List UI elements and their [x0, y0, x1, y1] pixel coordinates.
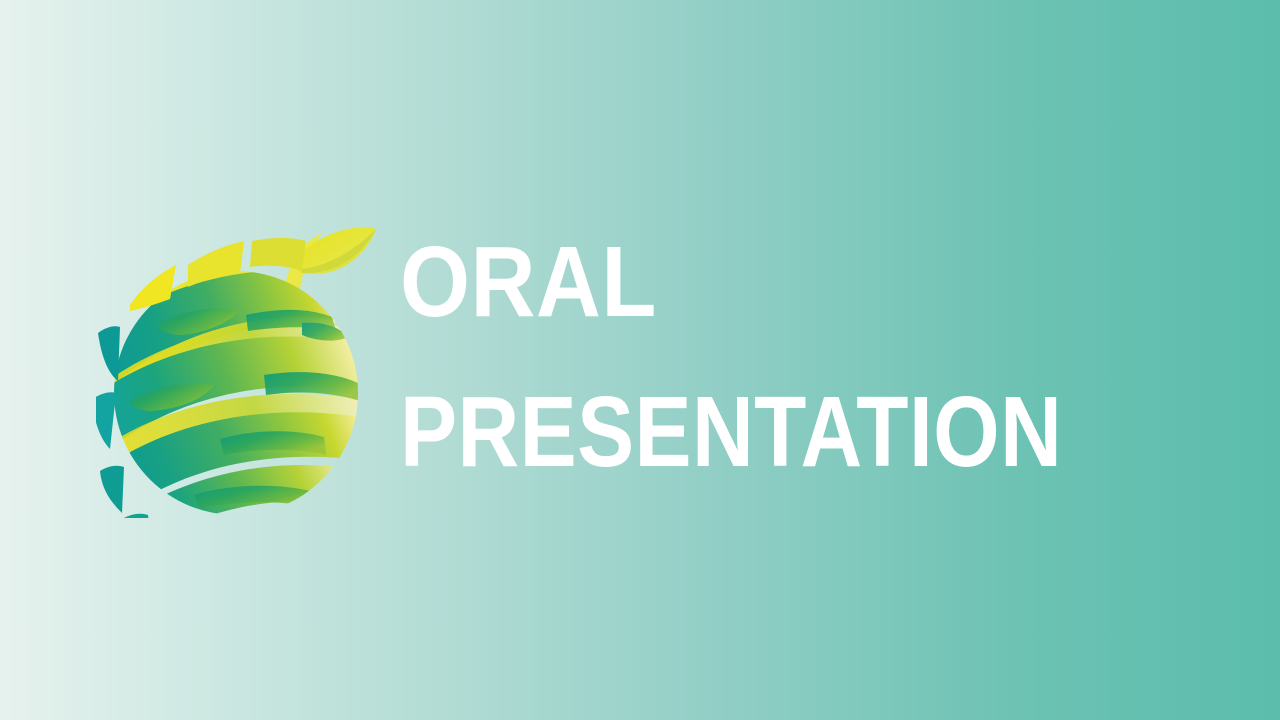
globe-ribbon-logo — [96, 203, 376, 518]
title-block: ORAL PRESENTATION — [400, 232, 1200, 482]
globe-ribbons — [96, 254, 375, 518]
page-title-line-1: ORAL — [400, 232, 1120, 332]
title-slide: ORAL PRESENTATION — [0, 0, 1280, 720]
page-title-line-2: PRESENTATION — [400, 382, 1084, 482]
